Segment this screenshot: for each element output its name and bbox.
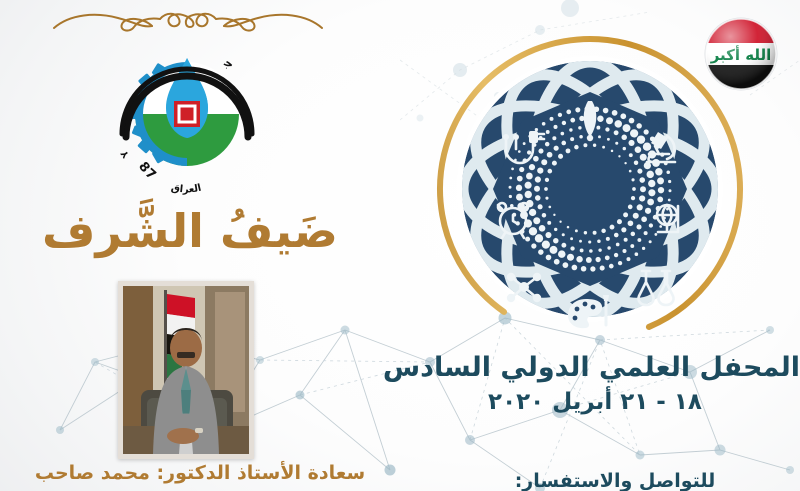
gold-flourish-icon [48, 2, 328, 38]
event-date: ١٨ - ٢١ أبريل ٢٠٢٠ [390, 389, 800, 419]
guest-portrait-image [123, 286, 249, 454]
guest-of-honor-name: سعادة الأستاذ الدكتور: محمد صاحب [0, 462, 400, 491]
guest-of-honor-heading: ضَيفُ الشَّرف [40, 196, 340, 266]
nahrain-university-logo: NAHRAIN UNIVERSITY جامعة النهرين Iraq 19… [92, 42, 282, 207]
contact-label: للتواصل والاستفسار: [430, 470, 800, 491]
conference-poster: NAHRAIN UNIVERSITY جامعة النهرين Iraq 19… [0, 0, 800, 491]
logo-country-text: العراق [170, 182, 202, 195]
science-atom-emblem [425, 24, 755, 354]
event-title: المحفل العلمي الدولي السادس [390, 352, 800, 386]
guest-photo-frame [118, 281, 254, 459]
logo-english-arc-text: NAHRAIN UNIVERSITY [92, 42, 132, 160]
